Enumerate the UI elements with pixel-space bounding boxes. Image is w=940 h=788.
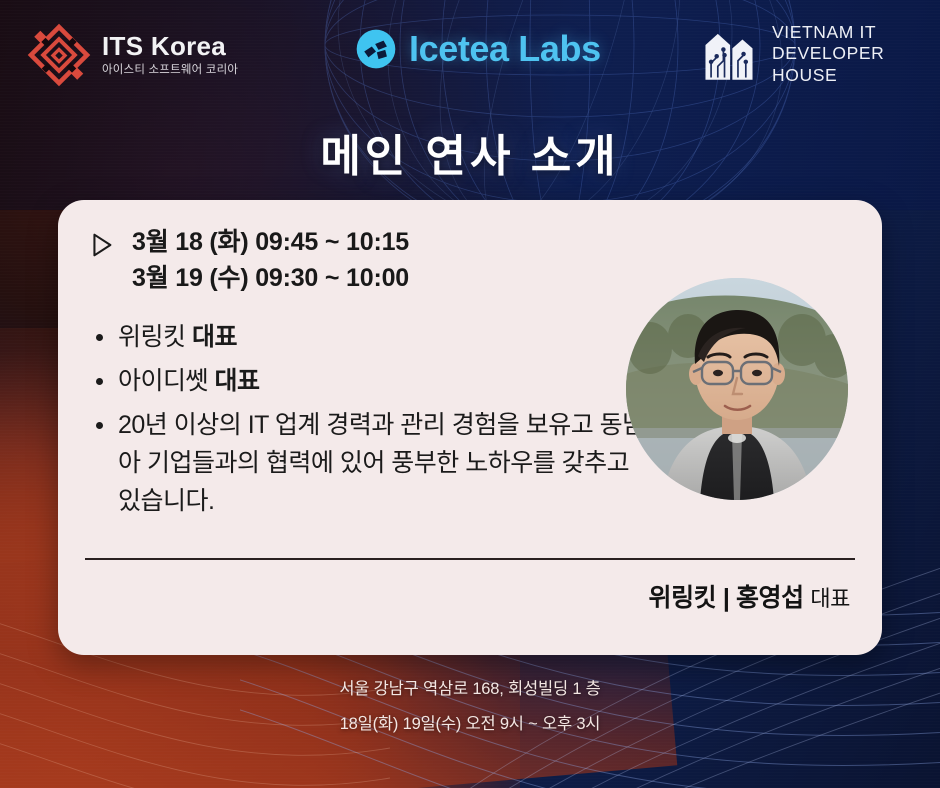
vietnam-it-wordmark: VIETNAM IT DEVELOPER HOUSE [772,22,940,86]
vietnam-it-line2: DEVELOPER HOUSE [772,43,940,86]
bullet-text-bold: 대표 [214,367,259,395]
footer-info: 서울 강남구 역삼로 168, 회성빌딩 1 층 18일(화) 19일(수) 오… [0,672,940,741]
list-item: 20년 이상의 IT 업계 경력과 관리 경험을 보유고 동남아 기업들과의 협… [118,406,658,520]
its-korea-maze-logomark-icon [26,22,92,88]
logo-icetea-labs: Icetea Labs [355,28,601,70]
list-item: 위링킷 대표 [118,318,658,356]
its-korea-wordmark: ITS Korea 아이스티 소프트웨어 코리아 [102,33,238,77]
bullet-text-normal: 아이디쎗 [118,367,214,395]
vietnam-it-line1: VIETNAM IT [772,22,940,43]
schedule-times: 3월 18 (화) 09:45 ~ 10:15 3월 19 (수) 09:30 … [132,224,409,297]
list-item: 아이디쎗 대표 [118,362,658,400]
footer-hours: 18일(화) 19일(수) 오전 9시 ~ 오후 3시 [0,707,940,742]
bullet-text-bold: 대표 [192,323,237,351]
speaker-name: 위링킷 | 홍영섭 [648,584,803,612]
bullet-text-normal: 20년 이상의 IT 업계 경력과 관리 경험을 보유고 동남아 기업들과의 협… [118,411,645,515]
building-circuit-logomark-icon [700,26,758,82]
speaker-card: 3월 18 (화) 09:45 ~ 10:15 3월 19 (수) 09:30 … [58,200,882,655]
schedule-line-1: 3월 18 (화) 09:45 ~ 10:15 [132,224,409,260]
footer-address: 서울 강남구 역삼로 168, 회성빌딩 1 층 [0,672,940,707]
header-logo-bar: ITS Korea 아이스티 소프트웨어 코리아 Icetea Labs [0,0,940,110]
schedule-line-2: 3월 19 (수) 09:30 ~ 10:00 [132,260,409,296]
logo-its-korea: ITS Korea 아이스티 소프트웨어 코리아 [26,22,238,88]
bullet-text-normal: 위링킷 [118,323,192,351]
event-poster: ITS Korea 아이스티 소프트웨어 코리아 Icetea Labs [0,0,940,788]
page-title: 메인 연사 소개 [0,120,940,184]
schedule-block: 3월 18 (화) 09:45 ~ 10:15 3월 19 (수) 09:30 … [86,224,409,297]
icetea-labs-wordmark: Icetea Labs [409,28,601,70]
logo-vietnam-it-developer-house: VIETNAM IT DEVELOPER HOUSE [700,22,940,86]
play-triangle-outline-icon [86,230,116,260]
speaker-name-line: 위링킷 | 홍영섭 대표 [648,578,850,614]
speaker-bullet-list: 위링킷 대표 아이디쎗 대표 20년 이상의 IT 업계 경력과 관리 경험을 … [90,318,658,526]
its-korea-title: ITS Korea [102,33,238,59]
speaker-role: 대표 [810,586,850,611]
speaker-photo [626,278,848,500]
icetea-labs-circle-logomark-icon [355,28,397,70]
its-korea-subtitle: 아이스티 소프트웨어 코리아 [102,65,238,77]
card-divider [85,558,855,560]
